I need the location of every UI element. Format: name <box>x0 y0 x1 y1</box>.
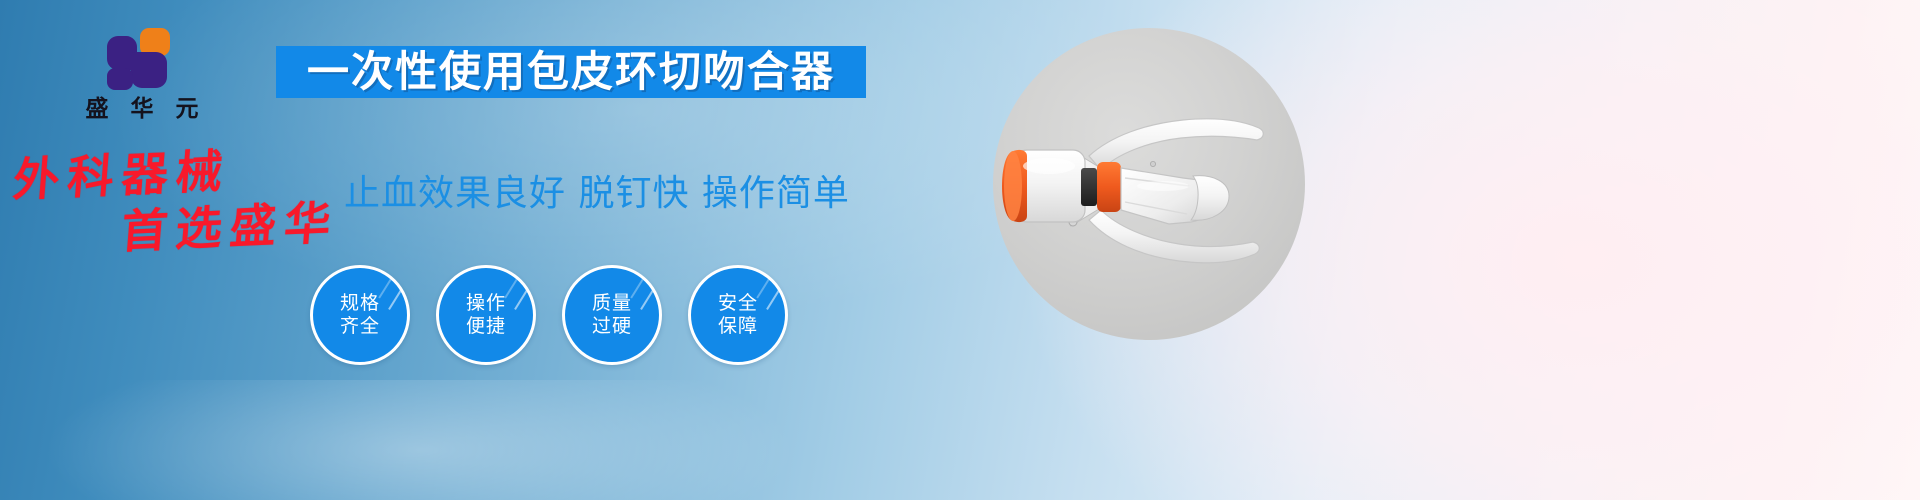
headline-title: 一次性使用包皮环切吻合器 <box>307 51 835 93</box>
stapler-illustration <box>993 28 1305 340</box>
badge-line-1: 安全 <box>718 292 758 315</box>
feature-badge[interactable]: 安全 保障 <box>688 265 788 365</box>
product-image <box>993 28 1305 340</box>
badge-line-2: 便捷 <box>466 315 506 338</box>
company-logo[interactable]: 盛 华 元 <box>62 28 222 121</box>
promo-banner: 盛 华 元 外科器械 首选盛华 一次性使用包皮环切吻合器 止血效果良好 脱钉快 … <box>0 0 1920 500</box>
feature-badge[interactable]: 规格 齐全 <box>310 265 410 365</box>
badge-line-1: 质量 <box>592 292 632 315</box>
background-bottom-glow <box>0 380 1920 500</box>
feature-badge[interactable]: 质量 过硬 <box>562 265 662 365</box>
badge-line-2: 保障 <box>718 315 758 338</box>
logo-blocks-icon <box>107 28 177 90</box>
badge-line-1: 操作 <box>466 292 506 315</box>
calligraphy-line-2: 首选盛华 <box>120 199 341 254</box>
badge-line-2: 过硬 <box>592 315 632 338</box>
badge-line-1: 规格 <box>340 292 380 315</box>
calligraphy-slogan: 外科器械 首选盛华 <box>14 150 338 250</box>
feature-badge[interactable]: 操作 便捷 <box>436 265 536 365</box>
company-name: 盛 华 元 <box>62 98 222 121</box>
feature-badge-list: 规格 齐全 操作 便捷 质量 过硬 安全 保障 <box>310 265 788 365</box>
subtitle-features: 止血效果良好 脱钉快 操作简单 <box>344 164 850 216</box>
badge-line-2: 齐全 <box>340 315 380 338</box>
calligraphy-line-1: 外科器械 <box>11 143 340 203</box>
headline-bar: 一次性使用包皮环切吻合器 <box>276 46 866 98</box>
